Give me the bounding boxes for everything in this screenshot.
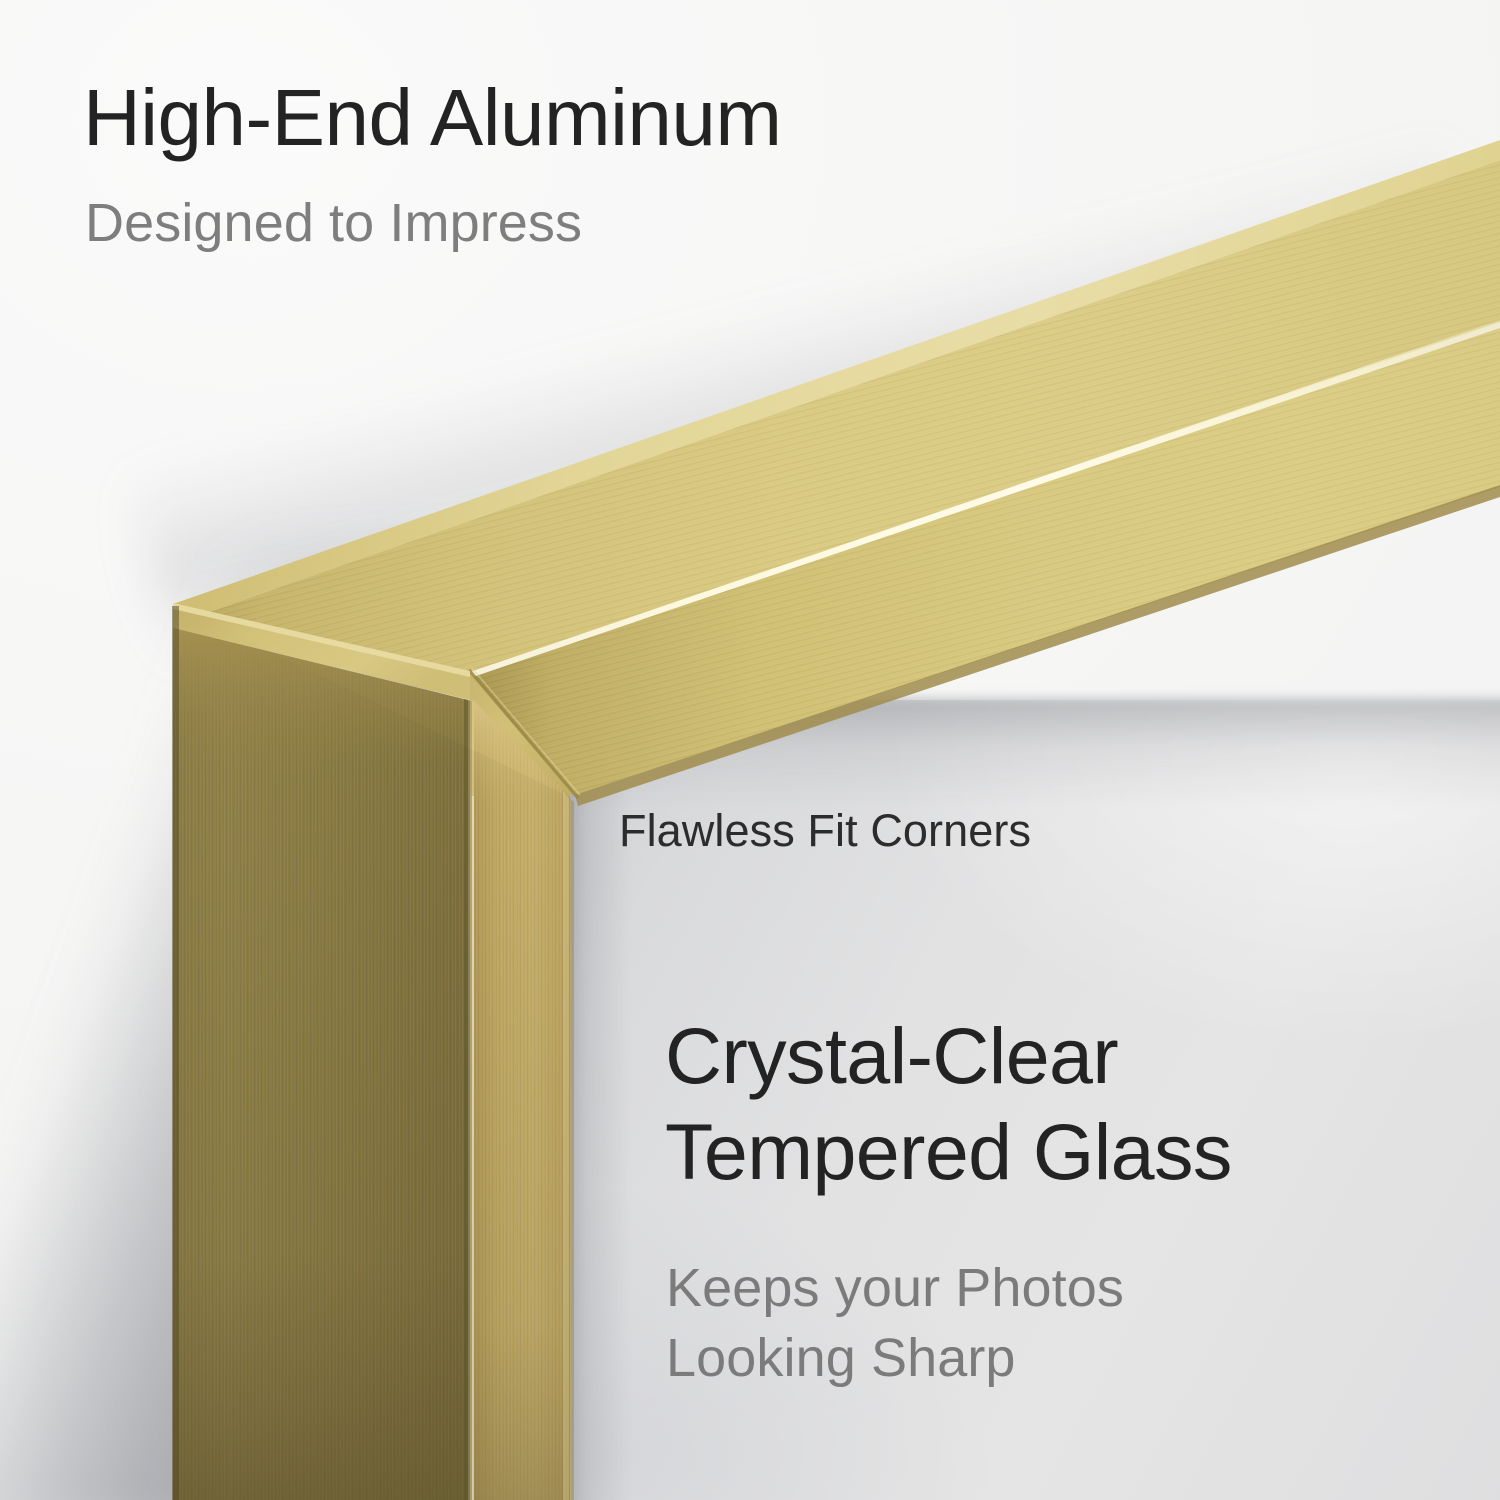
callout-glass-subtitle-line2: Looking Sharp — [666, 1323, 1124, 1393]
callout-glass-title-line1: Crystal-Clear — [665, 1008, 1232, 1104]
callout-glass-subtitle-line1: Keeps your Photos — [666, 1253, 1124, 1323]
page-subtitle: Designed to Impress — [85, 196, 582, 250]
page-title: High-End Aluminum — [83, 78, 782, 158]
callout-flawless-fit-corners: Flawless Fit Corners — [619, 808, 1031, 853]
callout-glass-title-line2: Tempered Glass — [665, 1104, 1232, 1200]
callout-glass-title: Crystal-Clear Tempered Glass — [665, 1008, 1232, 1201]
product-feature-image: High-End Aluminum Designed to Impress Fl… — [0, 0, 1500, 1500]
callout-glass-subtitle: Keeps your Photos Looking Sharp — [666, 1253, 1124, 1393]
